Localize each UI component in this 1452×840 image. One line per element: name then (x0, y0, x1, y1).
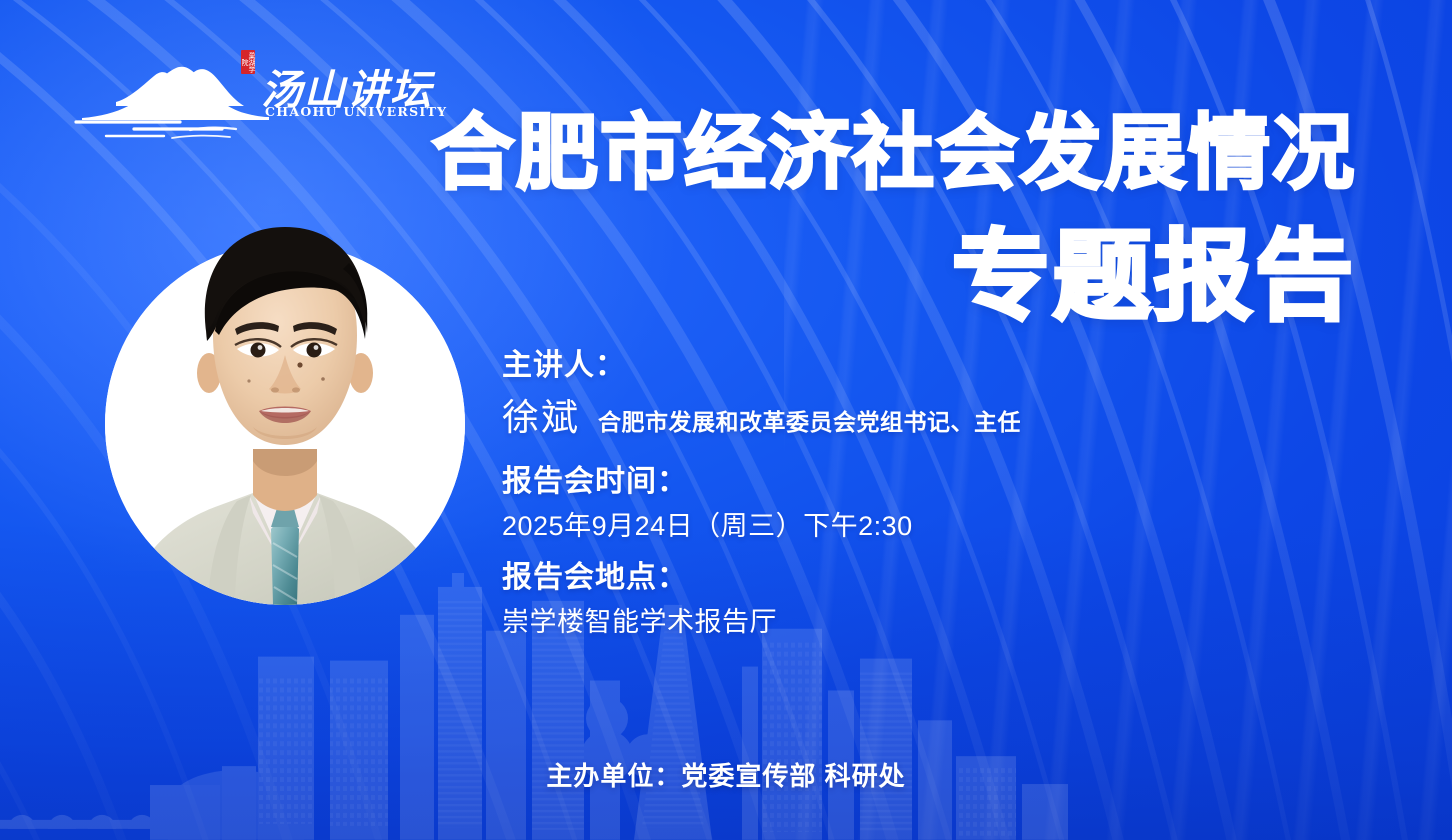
title-line-1: 合肥市经济社会发展情况 (432, 110, 1356, 198)
time-value: 2025年9月24日（周三）下午2:30 (502, 504, 1222, 548)
portrait-circle (105, 243, 465, 605)
speaker-portrait (105, 243, 465, 605)
portrait-photo (105, 243, 465, 605)
speaker-label: 主讲人： (502, 344, 1222, 388)
speaker-position: 合肥市发展和改革委员会党组书记、主任 (598, 398, 1021, 446)
poster-title: 合肥市经济社会发展情况 专题报告 (432, 110, 1356, 328)
forum-logo: 巢湖学院 汤山讲坛 CHAOHU UNIVERSITY (72, 48, 422, 144)
speaker-name: 徐斌 (502, 394, 580, 442)
event-details: 主讲人： 徐斌 合肥市发展和改革委员会党组书记、主任 报告会时间： 2025年9… (502, 344, 1222, 644)
place-label: 报告会地点： (502, 556, 1222, 600)
speaker-row: 徐斌 合肥市发展和改革委员会党组书记、主任 (502, 394, 1222, 446)
organizer-footer: 主办单位：党委宣传部 科研处 (0, 756, 1452, 793)
poster-canvas: 巢湖学院 汤山讲坛 CHAOHU UNIVERSITY 合肥市经济社会发展情况 … (0, 0, 1452, 840)
time-label: 报告会时间： (502, 460, 1222, 504)
place-value: 崇学楼智能学术报告厅 (502, 600, 1222, 644)
title-line-2: 专题报告 (432, 224, 1356, 328)
logo-seal: 巢湖学院 (241, 50, 255, 74)
logo-name-en: CHAOHU UNIVERSITY (265, 104, 447, 119)
